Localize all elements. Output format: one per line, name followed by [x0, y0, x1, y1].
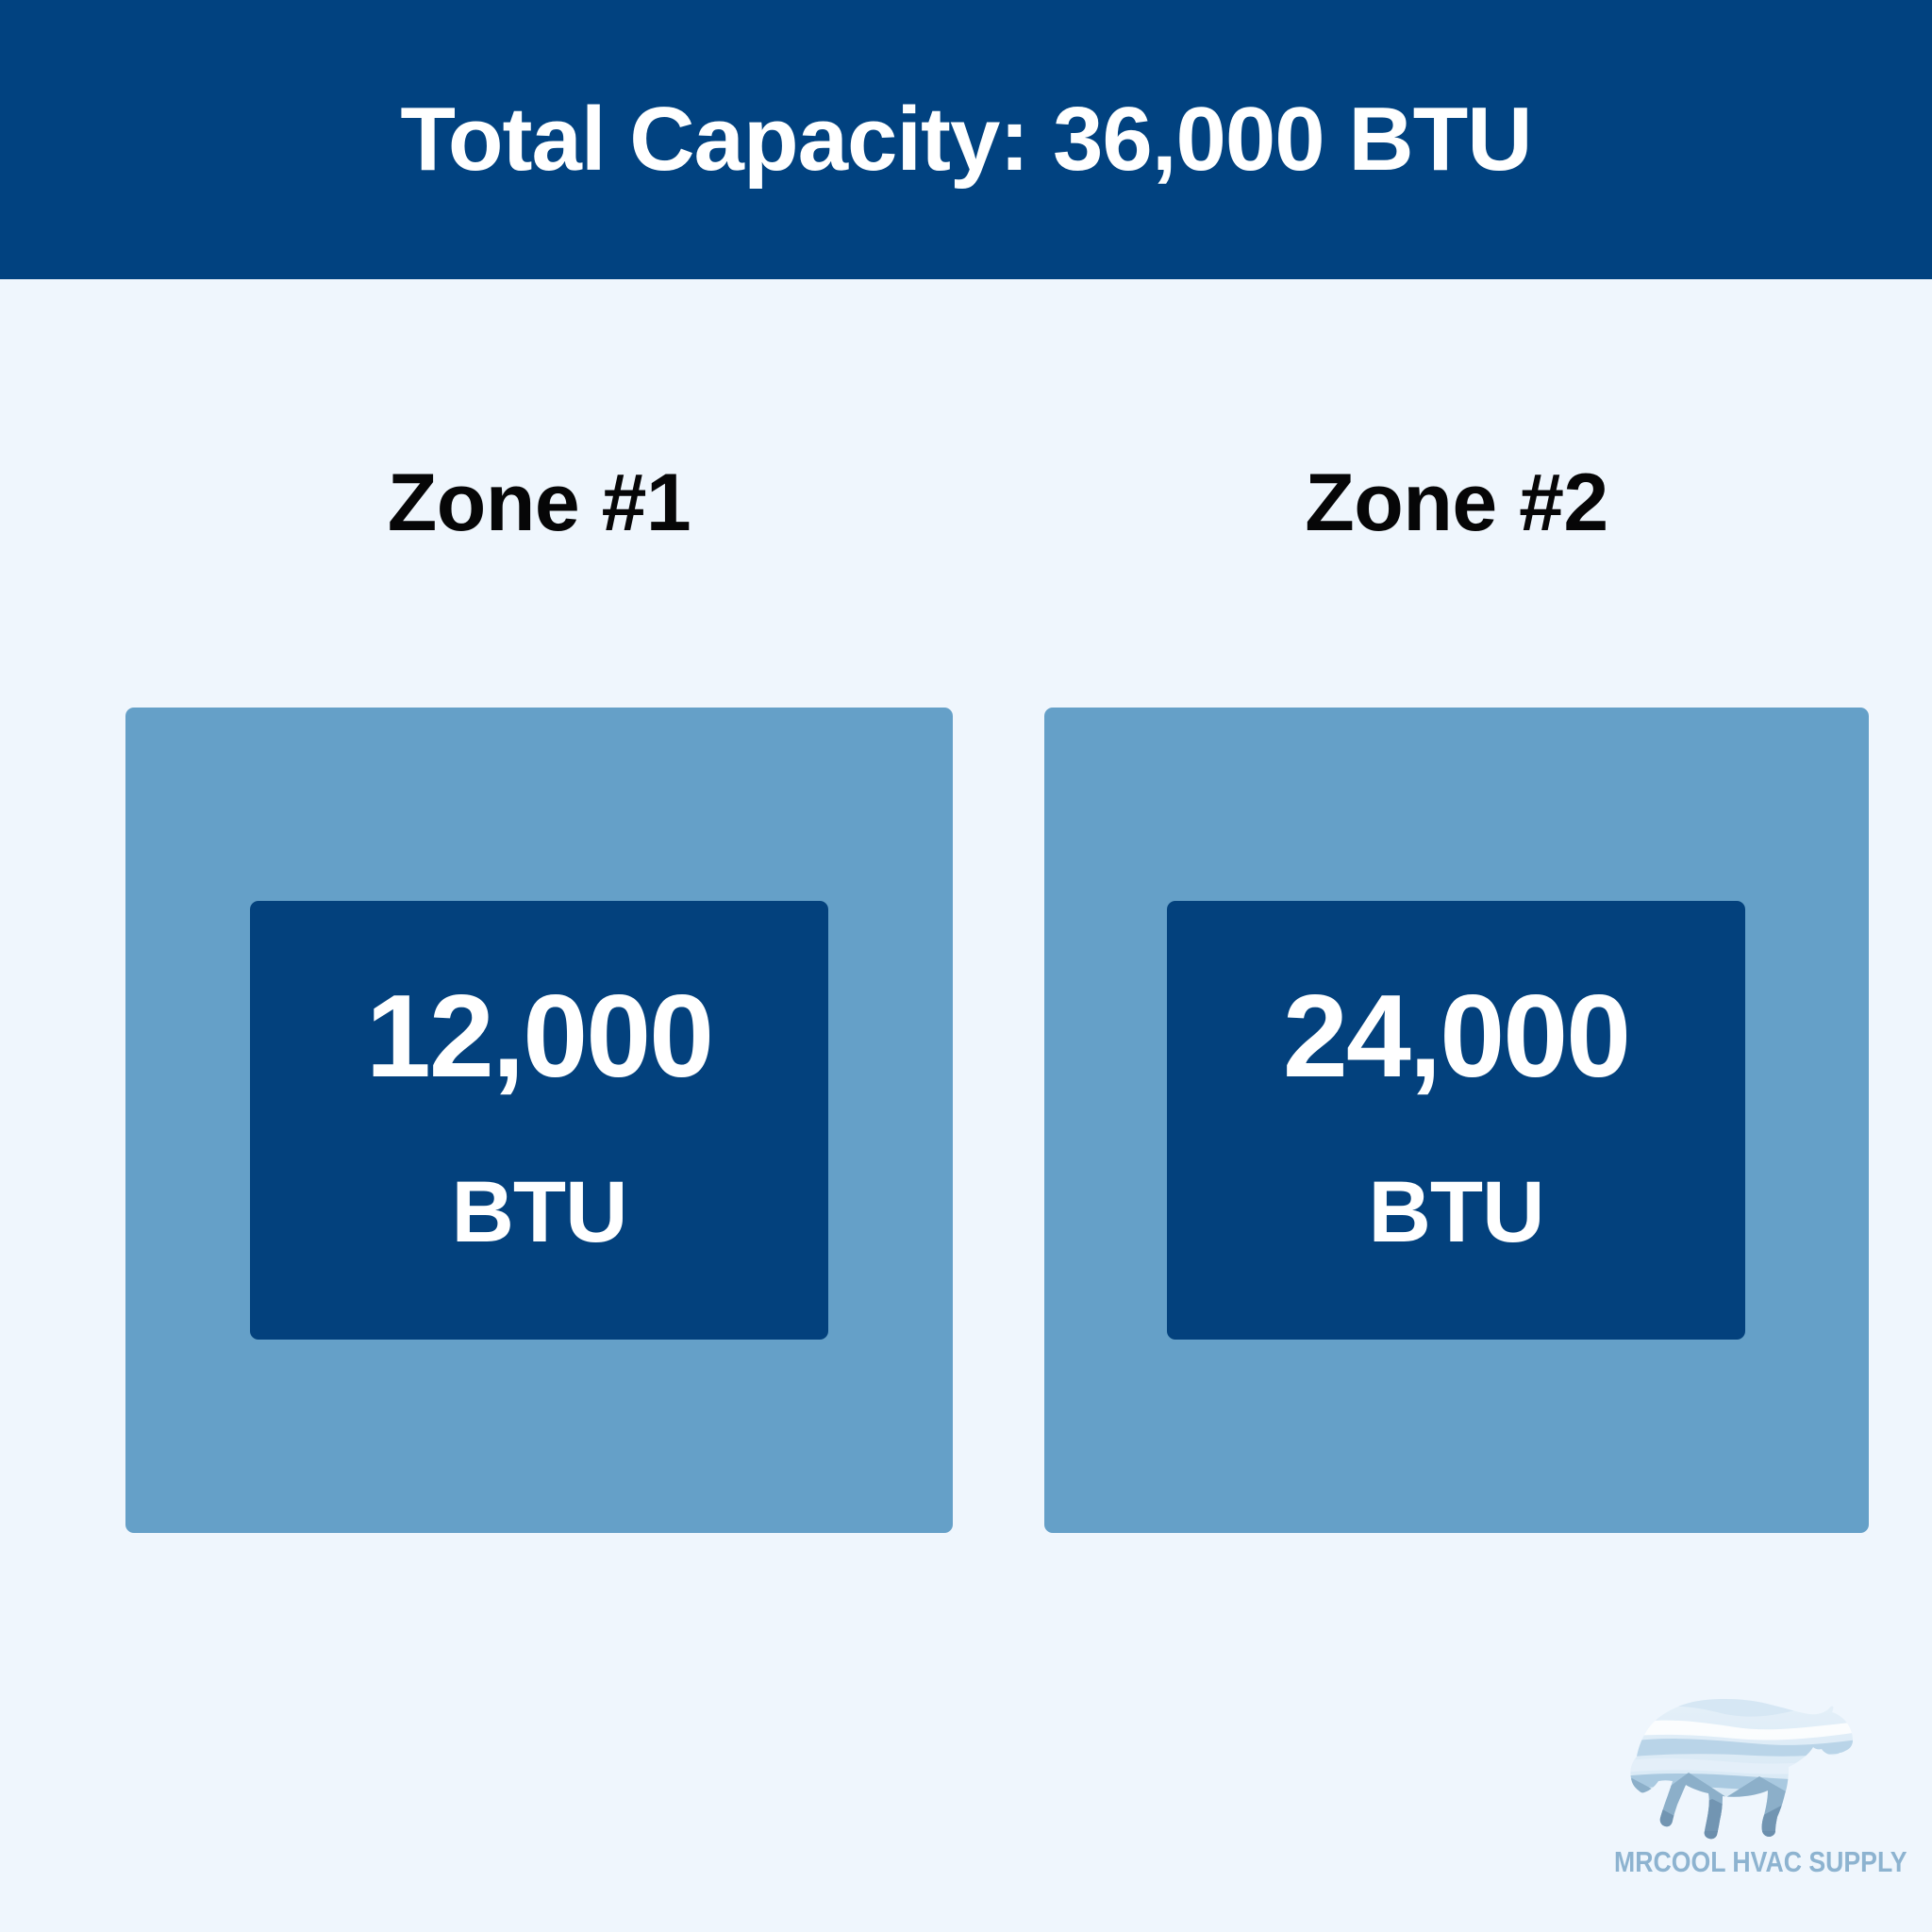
- zone-label-2: Zone #2: [1044, 462, 1869, 543]
- zone-value-box-1-content: 12,000 BTU: [250, 901, 828, 1340]
- zone-value-2: 24,000: [1167, 978, 1745, 1095]
- zone-value-box-1: 12,000 BTU: [250, 901, 828, 1340]
- brand-wordmark: MRCOOL HVAC SUPPLY: [1614, 1847, 1857, 1876]
- zone-value-box-2: 24,000 BTU: [1167, 901, 1745, 1340]
- page-title: Total Capacity: 36,000 BTU: [400, 94, 1531, 185]
- zone-unit-2: BTU: [1167, 1169, 1745, 1256]
- header-banner: Total Capacity: 36,000 BTU: [0, 0, 1932, 279]
- bear-landscape-fill: [1594, 1674, 1877, 1854]
- zone-label-1: Zone #1: [125, 462, 953, 543]
- zone-unit-1: BTU: [250, 1169, 828, 1256]
- zone-value-box-2-content: 24,000 BTU: [1167, 901, 1745, 1340]
- brand-logo: MRCOOL HVAC SUPPLY: [1594, 1674, 1877, 1901]
- polar-bear-icon: [1594, 1674, 1877, 1854]
- zone-value-1: 12,000: [250, 978, 828, 1095]
